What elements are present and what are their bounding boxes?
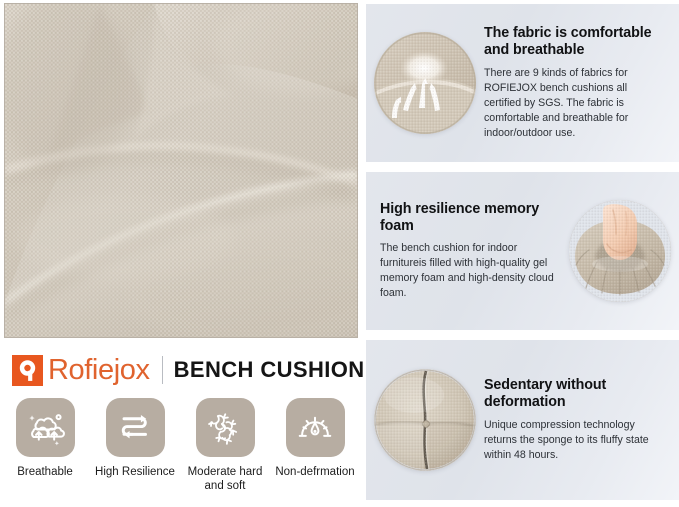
panel-text: High resilience memory foam The bench cu… <box>366 201 561 302</box>
feature-label: Breathable <box>0 465 91 479</box>
mesh-web-icon <box>196 398 255 457</box>
feature-item-moderate-hard-and-soft: Moderate hard and soft <box>180 398 270 493</box>
product-infographic: Rofiejox BENCH CUSHION <box>0 0 679 507</box>
panel-body: The bench cushion for indoor furnitureis… <box>380 241 561 301</box>
feature-label: Non-defrmation <box>269 465 361 479</box>
circle-image-wrap <box>366 32 484 134</box>
feature-item-high-resilience: High Resilience <box>90 398 180 493</box>
fabric-texture-photo <box>4 3 358 338</box>
feature-item-non-deformation: Non-defrmation <box>270 398 360 493</box>
info-panel-no-deformation: Sedentary without deformation Unique com… <box>366 340 679 500</box>
panel-body: There are 9 kinds of fabrics for ROFIEJO… <box>484 66 667 141</box>
info-panel-memory-foam: High resilience memory foam The bench cu… <box>366 172 679 330</box>
rofiejox-r-mark-icon <box>12 355 43 386</box>
airflow-through-fabric-photo <box>374 32 476 134</box>
feature-label: High Resilience <box>89 465 181 479</box>
fabric-texture-illustration <box>5 4 357 337</box>
round-tufted-cushion-photo <box>374 369 476 471</box>
hand-pressing-cushion-photo <box>569 200 671 302</box>
resilience-arrows-icon <box>106 398 165 457</box>
brand-divider <box>162 356 163 384</box>
info-panel-fabric: The fabric is comfortable and breathable… <box>366 4 679 162</box>
panel-title: The fabric is comfortable and breathable <box>484 25 667 60</box>
left-column: Rofiejox BENCH CUSHION <box>0 0 362 507</box>
panel-text: Sedentary without deformation Unique com… <box>484 377 679 463</box>
brand-row: Rofiejox BENCH CUSHION <box>12 350 352 390</box>
product-line-title: BENCH CUSHION <box>174 359 365 381</box>
feature-label: Moderate hard and soft <box>179 465 271 493</box>
feature-list: Breathable High Resilience <box>0 398 362 493</box>
panel-text: The fabric is comfortable and breathable… <box>484 25 679 141</box>
right-column: The fabric is comfortable and breathable… <box>366 0 679 507</box>
panel-title: High resilience memory foam <box>380 201 561 236</box>
feature-item-breathable: Breathable <box>0 398 90 493</box>
breathable-icon <box>16 398 75 457</box>
brand-name: Rofiejox <box>48 356 150 385</box>
panel-title: Sedentary without deformation <box>484 377 667 412</box>
circle-image-wrap <box>366 369 484 471</box>
panel-body: Unique compression technology returns th… <box>484 418 667 463</box>
gauge-icon <box>286 398 345 457</box>
circle-image-wrap <box>561 200 679 302</box>
